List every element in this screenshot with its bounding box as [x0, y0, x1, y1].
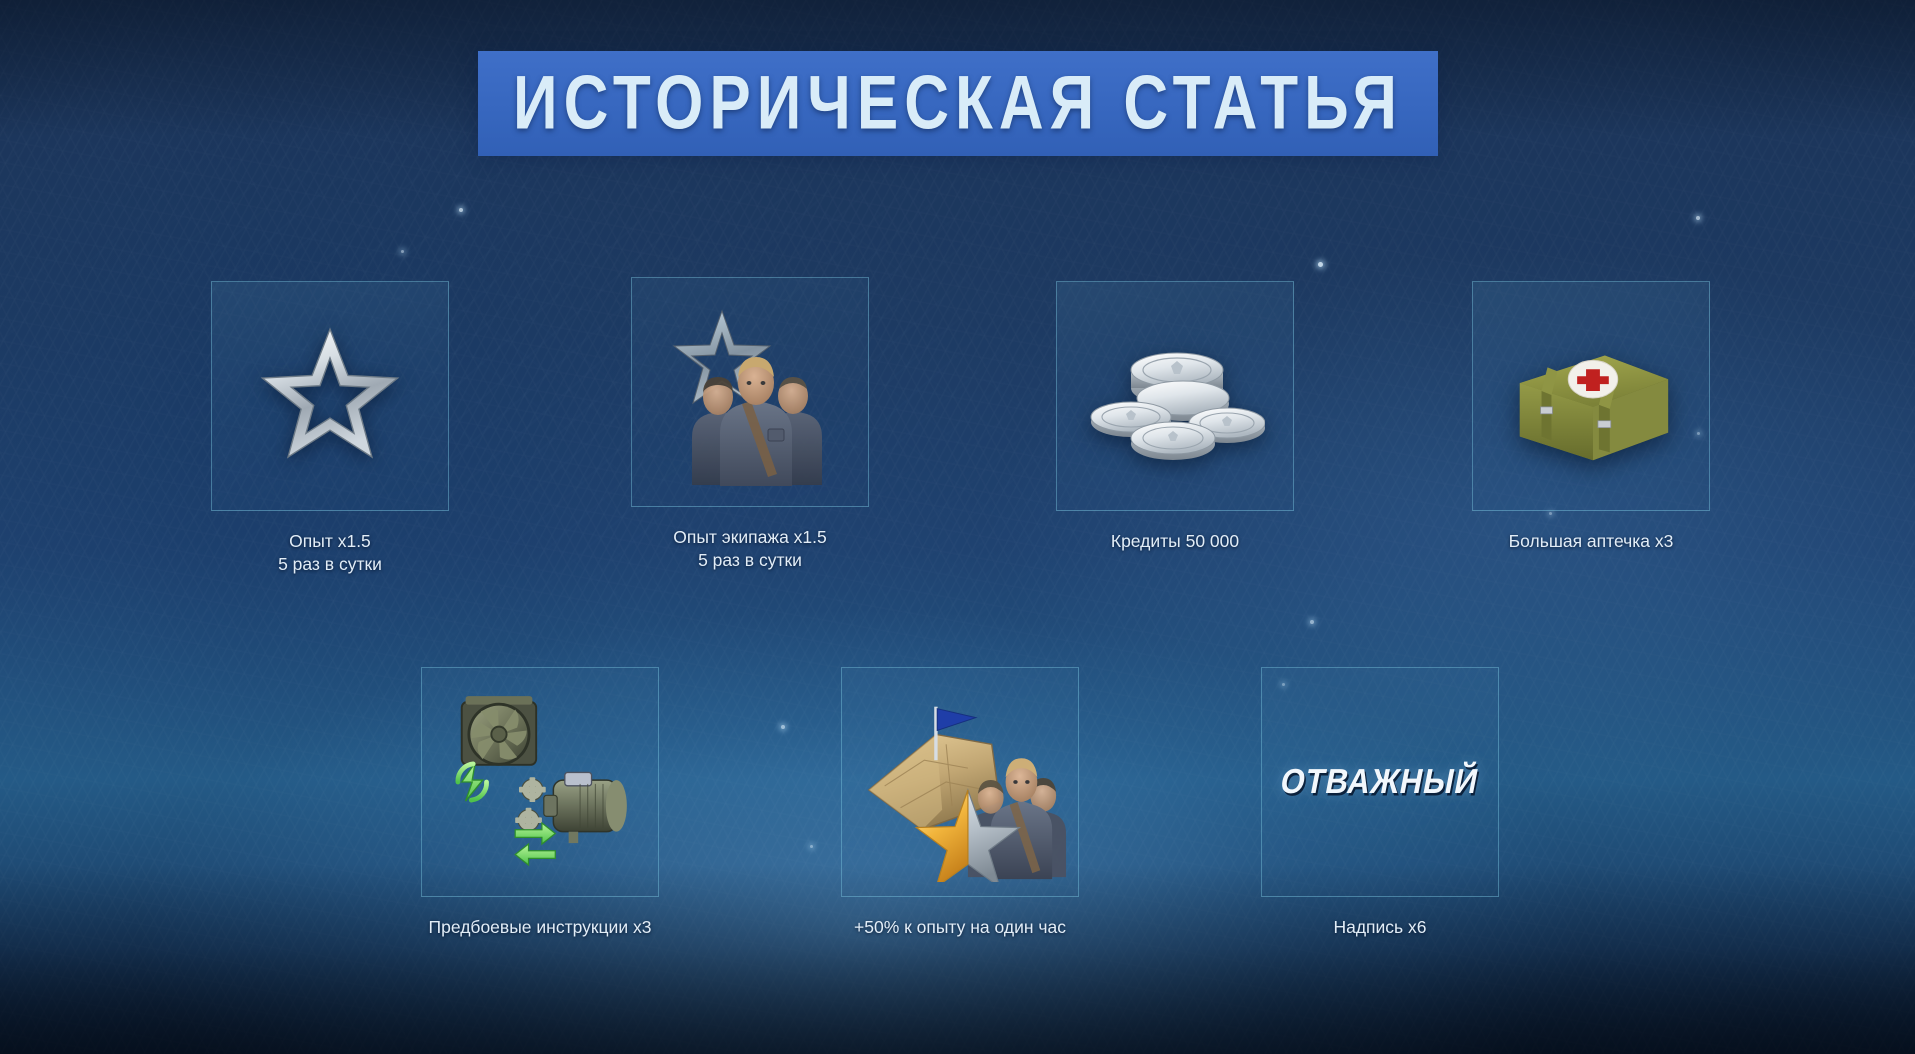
page-title: ИСТОРИЧЕСКАЯ СТАТЬЯ	[513, 60, 1403, 147]
reward-caption: Большая аптечка x3	[1509, 530, 1674, 553]
reward-caption: Надпись x6	[1333, 916, 1426, 939]
map-crew-star-icon	[851, 682, 1069, 882]
reward-tile-xp-boost[interactable]	[841, 667, 1079, 897]
reward-art-medkit	[1473, 282, 1709, 510]
silver-star-icon	[254, 320, 406, 472]
reward-caption: +50% к опыту на один час	[854, 916, 1066, 939]
reward-art-credits	[1057, 282, 1293, 510]
silver-coins-icon	[1085, 326, 1265, 466]
reward-art-crew-experience	[632, 278, 868, 506]
reward-tile-crew-experience[interactable]	[631, 277, 869, 507]
reward-card-experience[interactable]: Опыт x1.5 5 раз в сутки	[211, 281, 449, 576]
reward-art-inscription: ОТВАЖНЫЙ	[1262, 668, 1498, 896]
equipment-swap-icon	[433, 677, 647, 887]
reward-card-xp-boost[interactable]: +50% к опыту на один час	[841, 667, 1079, 939]
reward-art-xp-boost	[842, 668, 1078, 896]
page-title-banner: ИСТОРИЧЕСКАЯ СТАТЬЯ	[478, 51, 1438, 156]
reward-art-experience	[212, 282, 448, 510]
reward-tile-experience[interactable]	[211, 281, 449, 511]
inscription-label: ОТВАЖНЫЙ	[1277, 762, 1482, 802]
reward-caption: Опыт x1.5 5 раз в сутки	[278, 530, 382, 576]
crew-star-icon	[650, 297, 850, 487]
reward-caption: Кредиты 50 000	[1111, 530, 1239, 553]
reward-tile-inscription[interactable]: ОТВАЖНЫЙ	[1261, 667, 1499, 897]
reward-card-credits[interactable]: Кредиты 50 000	[1056, 281, 1294, 553]
reward-art-instructions	[422, 668, 658, 896]
medkit-icon	[1502, 321, 1680, 471]
reward-card-crew-experience[interactable]: Опыт экипажа x1.5 5 раз в сутки	[631, 277, 869, 572]
reward-tile-medkit[interactable]	[1472, 281, 1710, 511]
reward-card-inscription[interactable]: ОТВАЖНЫЙ Надпись x6	[1261, 667, 1499, 939]
reward-caption: Опыт экипажа x1.5 5 раз в сутки	[673, 526, 827, 572]
reward-card-medkit[interactable]: Большая аптечка x3	[1472, 281, 1710, 553]
reward-showcase-screen: ИСТОРИЧЕСКАЯ СТАТЬЯ О	[0, 0, 1915, 1054]
reward-card-instructions[interactable]: Предбоевые инструкции x3	[421, 667, 659, 939]
reward-caption: Предбоевые инструкции x3	[429, 916, 652, 939]
reward-tile-instructions[interactable]	[421, 667, 659, 897]
reward-tile-credits[interactable]	[1056, 281, 1294, 511]
